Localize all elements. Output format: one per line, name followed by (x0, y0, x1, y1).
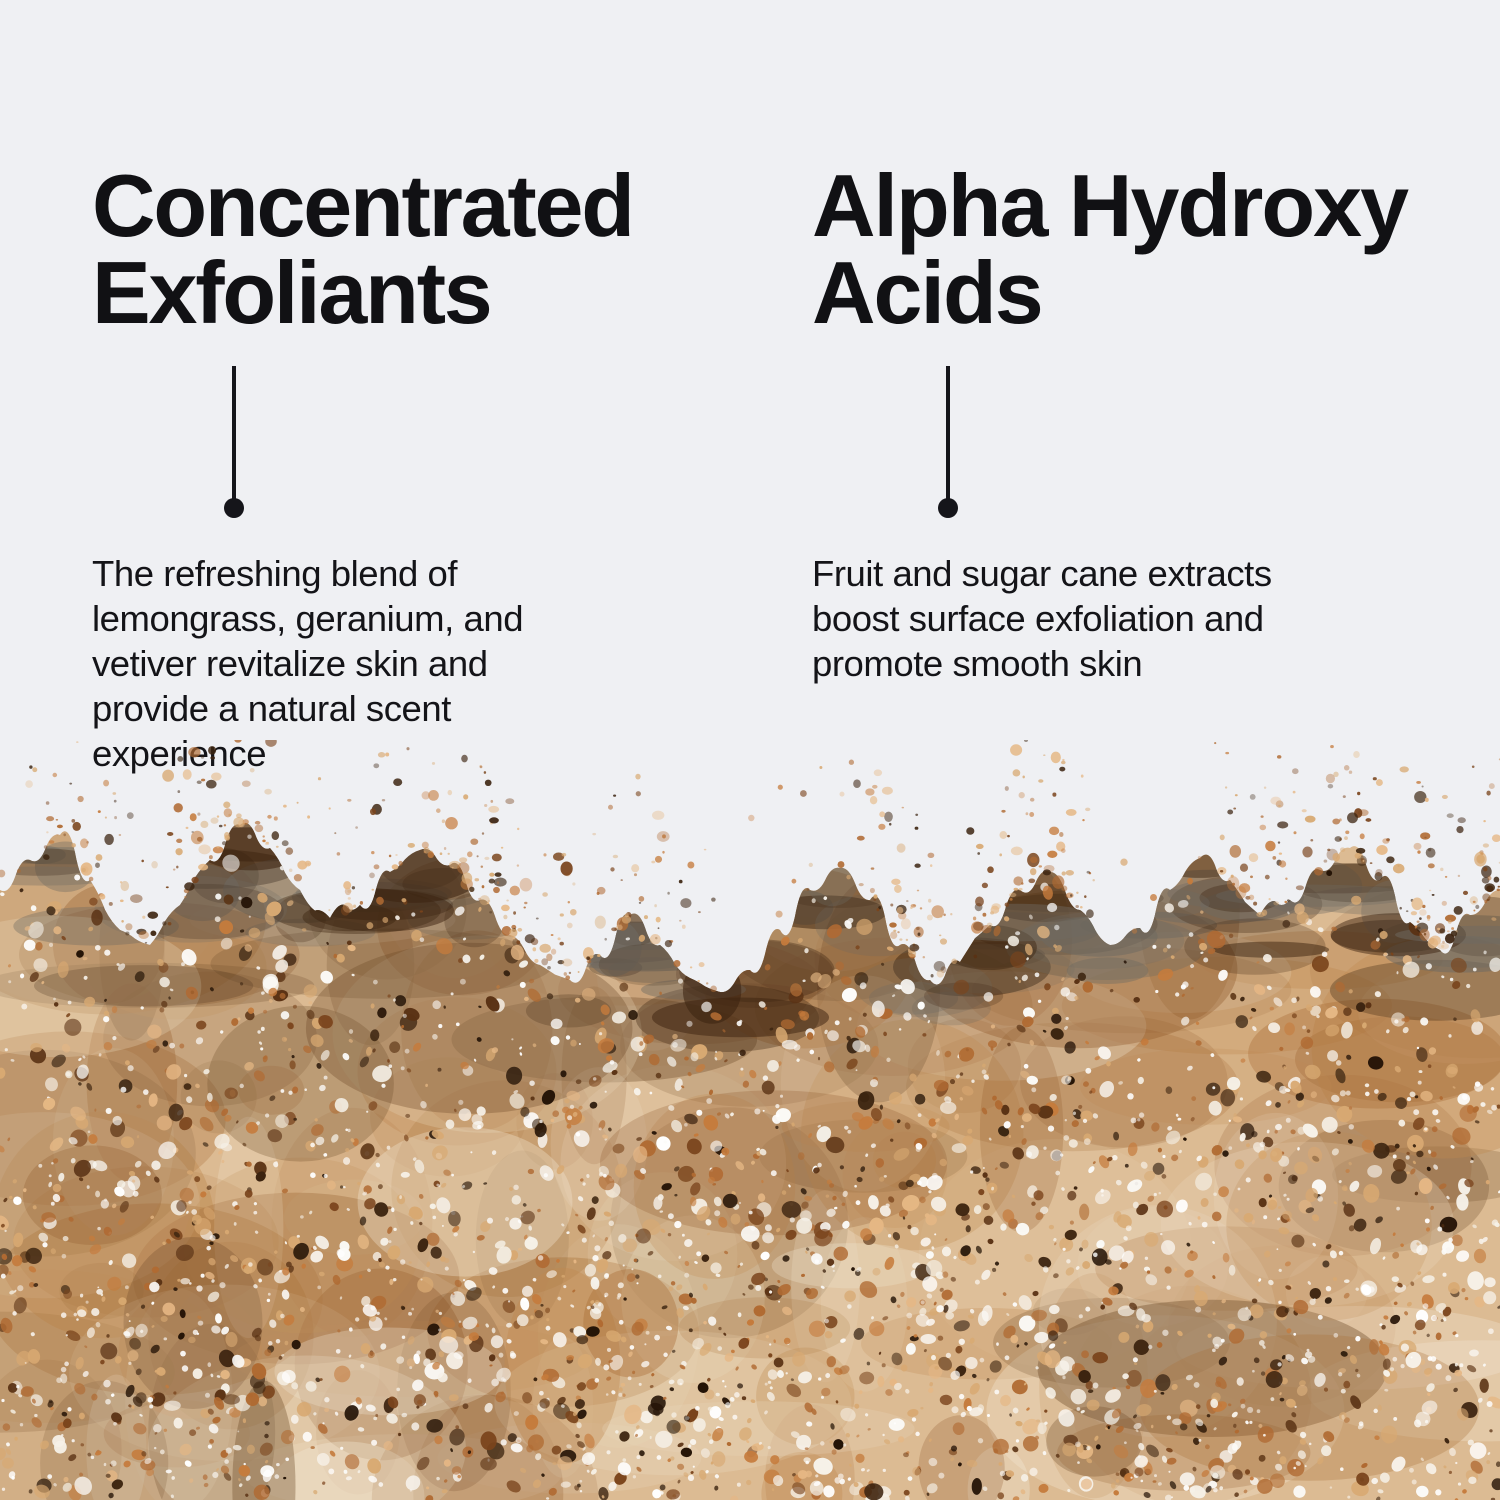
scrub-texture-canvas (0, 740, 1500, 1500)
connector-line-icon (946, 366, 950, 510)
connector-dot-icon (224, 498, 244, 518)
connector-dot-icon (938, 498, 958, 518)
callout-connector (937, 366, 959, 530)
callout-alpha-hydroxy-acids: Alpha Hydroxy Acids Fruit and sugar cane… (812, 0, 1432, 800)
callout-title: Alpha Hydroxy Acids (812, 162, 1407, 336)
connector-line-icon (232, 366, 236, 510)
callout-connector (223, 366, 245, 530)
product-benefits-panel: Concentrated Exfoliants The refreshing b… (0, 0, 1500, 1500)
callout-concentrated-exfoliants: Concentrated Exfoliants The refreshing b… (92, 0, 712, 800)
callout-title: Concentrated Exfoliants (92, 162, 633, 336)
callout-body-text: Fruit and sugar cane extracts boost surf… (812, 551, 1412, 686)
scrub-texture-image (0, 740, 1500, 1500)
